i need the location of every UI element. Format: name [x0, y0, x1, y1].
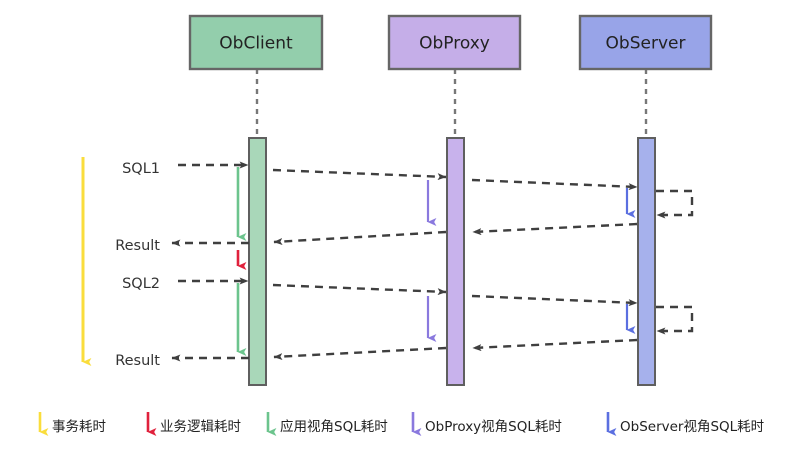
participant-boxes-group: ObClientObProxyObServer: [190, 16, 711, 69]
message-client-proxy-2: [273, 285, 446, 292]
message-label-result-2: Result: [115, 353, 160, 369]
activation-bar-observer: [638, 138, 655, 385]
legend-transaction-label: 事务耗时: [52, 419, 106, 435]
message-label-result-1: Result: [115, 238, 160, 254]
message-server-proxy-1: [473, 224, 637, 232]
self-loop-server-self-2: [656, 307, 692, 331]
duration-arrows-group: [83, 157, 627, 362]
message-proxy-server-1: [472, 180, 637, 187]
sequence-diagram-svg: SQL1ResultResultSQL2 ObClientObProxyObSe…: [0, 0, 809, 450]
participant-title-obclient: ObClient: [219, 34, 293, 54]
message-proxy-client-1: [274, 232, 446, 242]
legend-business-label: 业务逻辑耗时: [160, 419, 241, 435]
legend-server-sql: ObServer视角SQL耗时: [608, 412, 764, 435]
lifelines-group: [257, 69, 646, 138]
legend-proxy-sql: ObProxy视角SQL耗时: [413, 412, 562, 435]
legend-transaction: 事务耗时: [40, 412, 106, 435]
legend-group: 事务耗时业务逻辑耗时应用视角SQL耗时ObProxy视角SQL耗时ObServe…: [40, 412, 764, 435]
activation-bars-group: [249, 138, 655, 385]
message-label-sql1-0: SQL1: [122, 161, 160, 177]
legend-proxy-sql-label: ObProxy视角SQL耗时: [425, 419, 562, 435]
self-loop-server-self-1: [656, 191, 692, 215]
message-labels-group: SQL1ResultResultSQL2: [115, 161, 160, 369]
legend-app-sql-label: 应用视角SQL耗时: [280, 418, 388, 435]
messages-group: [172, 165, 637, 358]
activation-bar-obproxy: [447, 138, 464, 385]
message-server-proxy-2: [473, 340, 637, 348]
legend-server-sql-label: ObServer视角SQL耗时: [620, 419, 764, 435]
sequence-diagram-canvas: SQL1ResultResultSQL2 ObClientObProxyObSe…: [0, 0, 809, 450]
activation-bar-obclient: [249, 138, 266, 385]
message-proxy-client-2: [274, 348, 446, 357]
message-client-proxy-1: [273, 170, 446, 177]
legend-business: 业务逻辑耗时: [148, 412, 241, 435]
legend-app-sql: 应用视角SQL耗时: [268, 412, 388, 435]
message-proxy-server-2: [472, 296, 637, 303]
participant-title-obproxy: ObProxy: [419, 34, 490, 54]
participant-obproxy[interactable]: ObProxy: [389, 16, 520, 69]
message-label-sql2-3: SQL2: [122, 276, 160, 292]
participant-obclient[interactable]: ObClient: [190, 16, 322, 69]
self-loops-group: [656, 191, 692, 331]
participant-observer[interactable]: ObServer: [580, 16, 711, 69]
participant-title-observer: ObServer: [606, 34, 686, 54]
